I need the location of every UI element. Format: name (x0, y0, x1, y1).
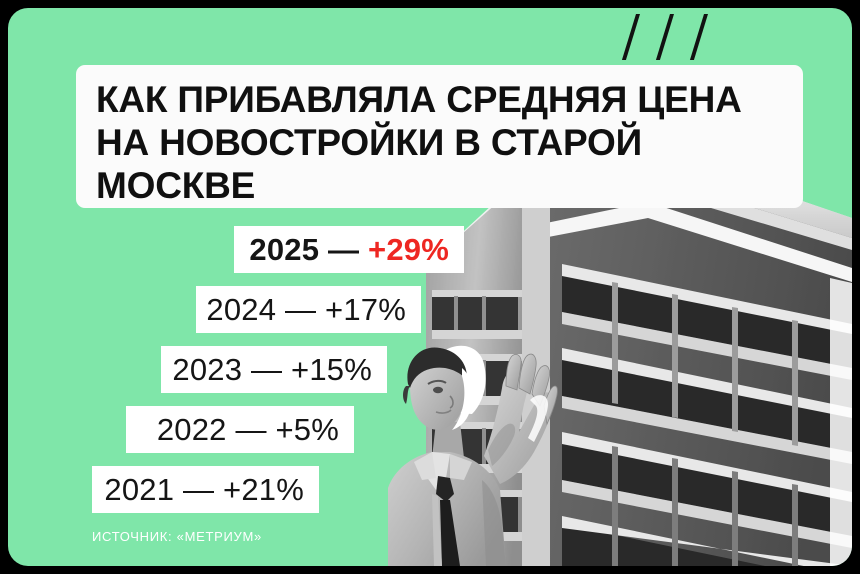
stat-year: 2021 (104, 472, 174, 507)
stat-row: 2023 — +15% (161, 346, 387, 393)
slash-mark-icon (622, 14, 640, 60)
stat-row-label: 2022 — +5% (157, 414, 339, 445)
stat-dash: — (328, 232, 359, 267)
stat-year: 2022 (157, 412, 227, 447)
stat-row-label: 2024 — +17% (206, 294, 406, 325)
stat-dash: — (235, 412, 266, 447)
stat-row-label: 2023 — +15% (172, 354, 372, 385)
slash-mark-icon (656, 14, 674, 60)
page-title: КАК ПРИБАВЛЯЛА СРЕДНЯЯ ЦЕНА НА НОВОСТРОЙ… (96, 78, 783, 207)
stat-row: 2025 — +29% (234, 226, 464, 273)
source-caption: ИСТОЧНИК: «МЕТРИУМ» (92, 529, 262, 544)
building-photo (426, 146, 852, 566)
stat-row-label: 2025 — +29% (249, 234, 449, 265)
stat-value: +5% (275, 412, 339, 447)
man-photo (388, 338, 558, 566)
stat-dash: — (285, 292, 316, 327)
slash-mark-icon (690, 14, 708, 60)
stat-year: 2024 (206, 292, 276, 327)
stat-row: 2024 — +17% (196, 286, 421, 333)
title-block: КАК ПРИБАВЛЯЛА СРЕДНЯЯ ЦЕНА НА НОВОСТРОЙ… (76, 65, 803, 208)
stat-value: +15% (291, 352, 372, 387)
decorative-slashes (622, 14, 742, 62)
stat-row-label: 2021 — +21% (104, 474, 304, 505)
stat-dash: — (251, 352, 282, 387)
stat-year: 2025 (249, 232, 319, 267)
stat-value: +29% (368, 232, 449, 267)
stat-value: +21% (223, 472, 304, 507)
stat-dash: — (183, 472, 214, 507)
infographic-card: КАК ПРИБАВЛЯЛА СРЕДНЯЯ ЦЕНА НА НОВОСТРОЙ… (8, 8, 852, 566)
stat-value: +17% (325, 292, 406, 327)
stat-row: 2022 — +5% (126, 406, 354, 453)
stat-year: 2023 (172, 352, 242, 387)
stat-row: 2021 — +21% (92, 466, 319, 513)
